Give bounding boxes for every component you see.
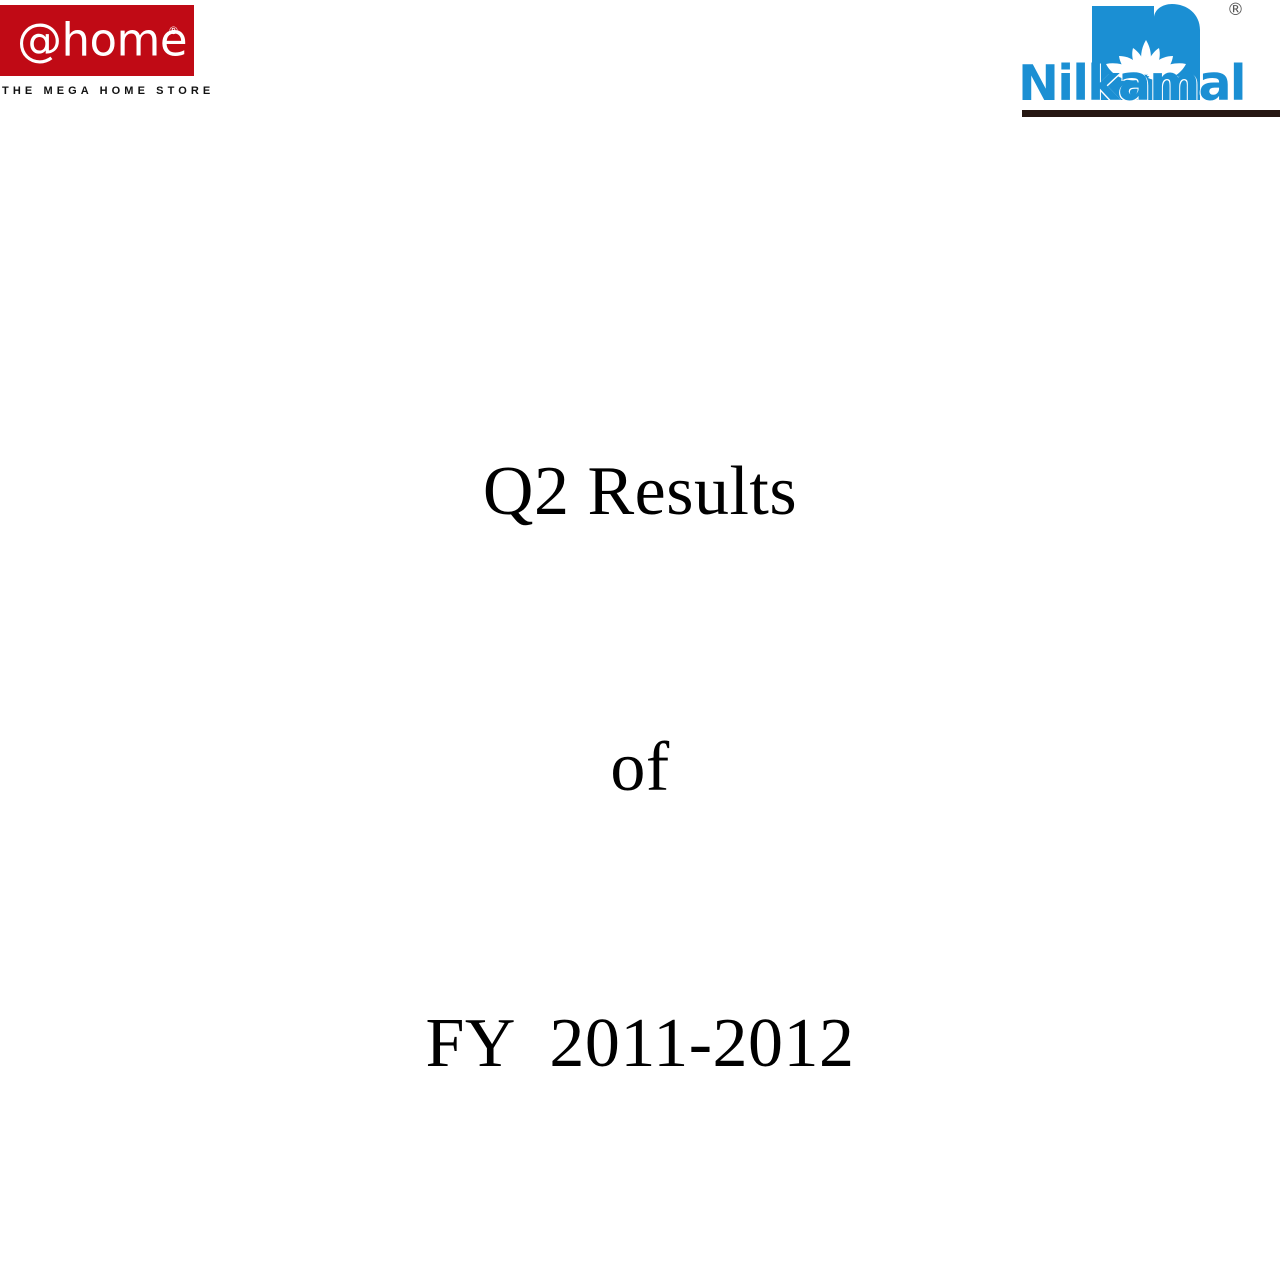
athome-tagline: THE MEGA HOME STORE <box>0 85 194 97</box>
title-line-3: FY 2011-2012 <box>0 998 1280 1090</box>
nilkamal-underline-bar <box>1022 110 1280 117</box>
title-line-2: of <box>0 722 1280 814</box>
athome-logo-box: @home ® <box>0 5 194 76</box>
athome-wordmark: @home <box>17 17 187 62</box>
title-line-1: Q2 Results <box>0 446 1280 538</box>
nilkamal-wordmark: Nilkamal <box>1018 58 1280 110</box>
nilkamal-logo: ® Nilkamal <box>1018 0 1280 122</box>
registered-trademark-icon: ® <box>1227 2 1244 19</box>
slide-title: Q2 Results of FY 2011-2012 <box>0 262 1280 1274</box>
registered-trademark-icon: ® <box>168 25 179 36</box>
presentation-slide: @home ® THE MEGA HOME STORE ® <box>0 0 1280 960</box>
athome-logo: @home ® THE MEGA HOME STORE <box>0 5 194 97</box>
